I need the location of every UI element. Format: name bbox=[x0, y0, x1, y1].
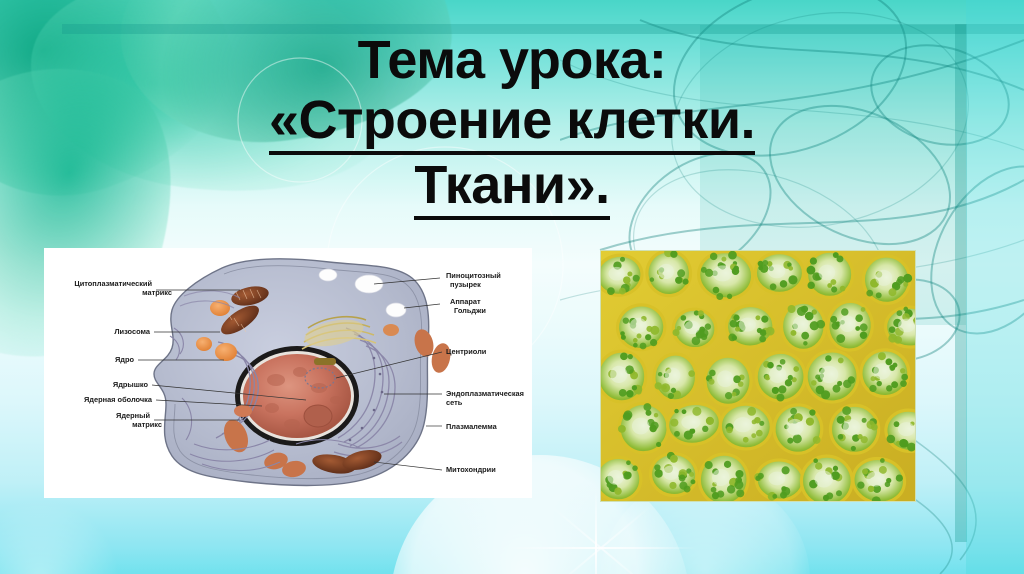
chloroplast bbox=[788, 275, 797, 284]
chloroplast bbox=[860, 331, 867, 338]
chloroplast bbox=[900, 368, 905, 373]
chloroplast bbox=[751, 433, 756, 438]
chloroplast bbox=[619, 389, 627, 397]
chloroplast bbox=[643, 403, 651, 411]
chloroplast bbox=[887, 435, 896, 444]
chloroplast bbox=[770, 283, 777, 290]
chloroplast bbox=[759, 336, 766, 343]
vacuole bbox=[898, 422, 915, 436]
chloroplast bbox=[837, 381, 842, 386]
cell-label-nuclear-envelope: Ядерная оболочка bbox=[84, 395, 153, 404]
chloroplast bbox=[766, 327, 775, 336]
svg-text:сеть: сеть bbox=[446, 398, 463, 407]
chloroplast bbox=[620, 257, 625, 262]
chloroplast bbox=[776, 394, 784, 402]
vacuole bbox=[734, 417, 752, 432]
chloroplast bbox=[620, 353, 628, 361]
chloroplast bbox=[816, 386, 825, 395]
chloroplast bbox=[811, 380, 817, 386]
chloroplast bbox=[688, 370, 695, 377]
chloroplast bbox=[831, 286, 837, 292]
chloroplast bbox=[614, 487, 621, 494]
chloroplast bbox=[654, 469, 662, 477]
chloroplast bbox=[778, 385, 786, 393]
chloroplast bbox=[903, 274, 912, 283]
cell-label-lysosome: Лизосома bbox=[114, 327, 151, 336]
chloroplast bbox=[841, 308, 849, 316]
chloroplast bbox=[915, 437, 916, 443]
chloroplast bbox=[780, 359, 786, 365]
chloroplast bbox=[624, 410, 633, 419]
chloroplast bbox=[727, 294, 732, 299]
plant-tissue-figure bbox=[600, 250, 916, 502]
chloroplast bbox=[838, 434, 844, 440]
chloroplast bbox=[733, 315, 739, 321]
chloroplast bbox=[806, 417, 814, 425]
chloroplast bbox=[651, 422, 659, 430]
vacuole bbox=[820, 366, 839, 383]
vacuole bbox=[712, 469, 730, 486]
chloroplast bbox=[838, 358, 844, 364]
chloroplast bbox=[860, 323, 868, 331]
chloroplast bbox=[626, 460, 631, 465]
chloroplast bbox=[790, 330, 796, 336]
chloroplast bbox=[726, 427, 733, 434]
chloroplast bbox=[709, 370, 716, 377]
chloroplast bbox=[843, 380, 852, 389]
chloroplast bbox=[669, 482, 676, 489]
vacuole bbox=[658, 264, 674, 279]
chloroplast bbox=[658, 372, 662, 376]
chloroplast bbox=[732, 392, 737, 397]
vacuole bbox=[875, 270, 892, 286]
chloroplast bbox=[842, 406, 851, 415]
vacuole bbox=[684, 321, 699, 334]
chloroplast bbox=[836, 490, 842, 496]
chloroplast bbox=[901, 374, 908, 381]
chloroplast bbox=[654, 413, 658, 417]
chloroplast bbox=[607, 287, 615, 295]
chloroplast bbox=[896, 279, 902, 285]
vacuole bbox=[608, 267, 624, 281]
chloroplast bbox=[825, 355, 831, 361]
chloroplast bbox=[880, 458, 885, 463]
vacuole bbox=[898, 319, 915, 333]
chloroplast bbox=[767, 362, 774, 369]
chloroplast bbox=[618, 425, 626, 433]
chloroplast bbox=[671, 388, 676, 393]
chloroplast bbox=[705, 323, 711, 329]
chloroplast bbox=[803, 341, 807, 345]
bubble-glow-icon bbox=[0, 500, 120, 574]
chloroplast bbox=[877, 381, 882, 386]
presentation-slide: Тема урока: «Строение клетки. Ткани». bbox=[0, 0, 1024, 574]
title-line-3: Ткани». bbox=[0, 155, 1024, 220]
chloroplast bbox=[876, 292, 882, 298]
sparkle-icon bbox=[595, 488, 597, 574]
chloroplast bbox=[677, 269, 685, 277]
chloroplast bbox=[801, 306, 808, 313]
svg-text:матрикс: матрикс bbox=[132, 420, 162, 429]
chloroplast bbox=[830, 316, 837, 323]
chloroplast bbox=[633, 338, 638, 343]
chloroplast bbox=[900, 380, 907, 387]
animal-cell-figure: Цитоплазматический матрикс Лизосома Ядро… bbox=[44, 248, 532, 498]
chloroplast bbox=[793, 434, 802, 443]
chloroplast bbox=[855, 326, 860, 331]
chloroplast bbox=[810, 257, 817, 264]
chloroplast bbox=[826, 492, 833, 499]
vacuole bbox=[632, 418, 650, 435]
vacuole bbox=[769, 366, 787, 383]
chloroplast bbox=[809, 409, 815, 415]
cell-label-nuclear-matrix: Ядерный bbox=[116, 411, 150, 420]
chloroplast bbox=[710, 253, 717, 260]
cell-label-nucleus: Ядро bbox=[115, 355, 135, 364]
chloroplast bbox=[813, 458, 818, 463]
chloroplast bbox=[780, 492, 787, 499]
vacuole bbox=[793, 316, 809, 332]
chloroplast bbox=[633, 275, 640, 282]
chloroplast bbox=[623, 317, 629, 323]
chloroplast bbox=[899, 439, 908, 448]
chloroplast bbox=[692, 407, 701, 416]
chloroplast bbox=[889, 288, 897, 296]
vacuole bbox=[739, 318, 756, 332]
chloroplast bbox=[885, 358, 892, 365]
chloroplast bbox=[915, 422, 916, 430]
chloroplast bbox=[830, 279, 836, 285]
chloroplast bbox=[681, 315, 687, 321]
vacuole bbox=[839, 315, 855, 332]
chloroplast bbox=[833, 466, 838, 471]
chloroplast bbox=[816, 320, 825, 329]
chloroplast bbox=[888, 334, 897, 343]
cell-label-mitochondria: Митохондрии bbox=[446, 465, 496, 474]
chloroplast bbox=[889, 326, 896, 333]
chloroplast bbox=[656, 442, 661, 447]
chloroplast bbox=[662, 385, 667, 390]
sparkle-icon bbox=[551, 505, 652, 574]
chloroplast bbox=[716, 293, 723, 300]
chloroplast bbox=[812, 310, 817, 315]
chloroplast bbox=[730, 320, 738, 328]
vacuole bbox=[717, 370, 734, 387]
chloroplast bbox=[668, 393, 674, 399]
chloroplast bbox=[755, 476, 760, 481]
chloroplast bbox=[705, 461, 713, 469]
chloroplast bbox=[675, 277, 682, 284]
chloroplast bbox=[815, 462, 822, 469]
chloroplast bbox=[858, 434, 863, 439]
chloroplast bbox=[754, 417, 761, 424]
chloroplast bbox=[640, 343, 647, 350]
title-text: Тема урока: bbox=[358, 30, 667, 90]
chloroplast bbox=[734, 480, 743, 489]
chloroplast bbox=[711, 487, 717, 493]
vacuole bbox=[630, 318, 647, 333]
chloroplast bbox=[813, 436, 821, 444]
chloroplast bbox=[727, 485, 735, 493]
chloroplast bbox=[897, 310, 903, 316]
chloroplast bbox=[650, 339, 657, 346]
chloroplast bbox=[674, 431, 680, 437]
cell-label-pinocytotic-vesicle: Пиноцитозный bbox=[446, 271, 501, 280]
chloroplast bbox=[679, 475, 686, 482]
vacuole bbox=[663, 466, 680, 480]
chloroplast bbox=[862, 468, 868, 474]
chloroplast bbox=[690, 479, 695, 484]
vacuole bbox=[866, 471, 885, 486]
chloroplast bbox=[627, 272, 632, 277]
chloroplast bbox=[721, 257, 726, 262]
chloroplast bbox=[698, 310, 704, 316]
cell-label-golgi-apparatus: Аппарат bbox=[450, 297, 481, 306]
chloroplast bbox=[632, 465, 638, 471]
chloroplast bbox=[655, 382, 662, 389]
svg-text:пузырек: пузырек bbox=[450, 280, 481, 289]
chloroplast bbox=[855, 314, 863, 322]
chloroplast bbox=[781, 486, 786, 491]
chloroplast bbox=[851, 446, 856, 451]
chloroplast bbox=[684, 486, 691, 493]
chloroplast bbox=[645, 334, 651, 340]
chloroplast bbox=[780, 280, 788, 288]
chloroplast bbox=[885, 482, 891, 488]
title-line-1: Тема урока: bbox=[0, 30, 1024, 90]
chloroplast bbox=[756, 430, 763, 437]
vacuole bbox=[607, 470, 623, 485]
cell-label-centrioles: Центриоли bbox=[446, 347, 487, 356]
chloroplast bbox=[903, 307, 908, 312]
chloroplast bbox=[692, 337, 701, 346]
chloroplast bbox=[896, 475, 903, 482]
cell-label-nucleolus: Ядрышко bbox=[113, 380, 149, 389]
chloroplast bbox=[732, 335, 737, 340]
chloroplast bbox=[836, 334, 845, 343]
chloroplast bbox=[755, 315, 760, 320]
chloroplast bbox=[866, 421, 874, 429]
chloroplast bbox=[650, 277, 655, 282]
chloroplast bbox=[670, 419, 678, 427]
chloroplast bbox=[636, 389, 642, 395]
chloroplast bbox=[878, 352, 886, 360]
vacuole bbox=[819, 265, 836, 281]
chloroplast bbox=[628, 354, 633, 359]
vacuole bbox=[815, 471, 833, 488]
chloroplast bbox=[782, 466, 790, 474]
chloroplast bbox=[787, 438, 793, 444]
chloroplast bbox=[793, 366, 799, 372]
chloroplast bbox=[725, 392, 732, 399]
chloroplast bbox=[712, 492, 719, 499]
chloroplast bbox=[728, 251, 737, 259]
chloroplast bbox=[871, 376, 876, 381]
chloroplast bbox=[807, 266, 816, 275]
chloroplast bbox=[861, 307, 866, 312]
chloroplast bbox=[706, 417, 714, 425]
svg-text:Гольджи: Гольджи bbox=[454, 306, 486, 315]
cell-label-plasmalemma: Плазмалемма bbox=[446, 422, 498, 431]
chloroplast bbox=[862, 418, 867, 423]
chloroplast bbox=[869, 385, 876, 392]
vacuole bbox=[681, 415, 700, 429]
vacuole bbox=[610, 366, 627, 383]
chloroplast bbox=[788, 266, 793, 271]
chloroplast bbox=[735, 327, 740, 332]
chloroplast bbox=[892, 363, 897, 368]
chloroplast bbox=[891, 381, 898, 388]
chloroplast bbox=[761, 316, 768, 323]
cell-label-endoplasmic-reticulum: Эндоплазматическая bbox=[446, 389, 524, 398]
title-text: «Строение клетки. bbox=[269, 90, 755, 155]
chloroplast bbox=[758, 261, 764, 267]
chloroplast bbox=[689, 472, 694, 477]
chloroplast bbox=[808, 282, 815, 289]
chloroplast bbox=[886, 385, 892, 391]
chloroplast bbox=[646, 410, 652, 416]
chloroplast bbox=[790, 408, 797, 415]
chloroplast bbox=[866, 290, 873, 297]
slide-title: Тема урока: «Строение клетки. Ткани». bbox=[0, 30, 1024, 220]
chloroplast bbox=[801, 332, 809, 340]
chloroplast bbox=[682, 409, 687, 414]
chloroplast bbox=[772, 494, 777, 499]
chloroplast bbox=[724, 461, 731, 468]
chloroplast bbox=[626, 390, 633, 397]
chloroplast bbox=[735, 470, 743, 478]
chloroplast bbox=[837, 416, 845, 424]
vacuole bbox=[843, 419, 860, 435]
chloroplast bbox=[868, 486, 874, 492]
chloroplast bbox=[619, 288, 626, 295]
chloroplast bbox=[674, 409, 678, 413]
chloroplast bbox=[620, 331, 625, 336]
chloroplast bbox=[785, 379, 792, 386]
chloroplast bbox=[682, 279, 688, 285]
chloroplast bbox=[637, 334, 642, 339]
sparkle-icon bbox=[506, 547, 696, 549]
vacuole bbox=[665, 368, 680, 384]
chloroplast bbox=[840, 286, 846, 292]
title-line-2: «Строение клетки. bbox=[0, 90, 1024, 155]
chloroplast bbox=[670, 455, 678, 463]
chloroplast bbox=[760, 329, 767, 336]
title-text: Ткани». bbox=[414, 155, 609, 220]
chloroplast bbox=[677, 326, 681, 330]
vacuole bbox=[713, 265, 732, 281]
sparkle-icon bbox=[551, 505, 652, 574]
chloroplast bbox=[857, 482, 864, 489]
chloroplast bbox=[701, 267, 707, 273]
chloroplast bbox=[709, 379, 715, 385]
chloroplast bbox=[650, 326, 659, 335]
vacuole bbox=[768, 264, 785, 278]
chloroplast bbox=[632, 385, 637, 390]
vacuole bbox=[873, 363, 890, 379]
chloroplast bbox=[702, 426, 708, 432]
chloroplast bbox=[736, 489, 744, 497]
chloroplast bbox=[833, 252, 839, 258]
chloroplast bbox=[732, 267, 740, 275]
svg-text:матрикс: матрикс bbox=[142, 288, 172, 297]
vacuole bbox=[786, 419, 803, 435]
chloroplast bbox=[743, 437, 749, 443]
cell-label-cytoplasmic-matrix: Цитоплазматический bbox=[74, 279, 152, 288]
chloroplast bbox=[788, 305, 796, 313]
chloroplast bbox=[713, 287, 720, 294]
chloroplast bbox=[627, 472, 632, 477]
chloroplast bbox=[772, 387, 779, 394]
chloroplast bbox=[747, 407, 756, 416]
chloroplast bbox=[633, 343, 638, 348]
chloroplast bbox=[762, 260, 768, 266]
chloroplast bbox=[894, 421, 900, 427]
vacuole bbox=[768, 472, 785, 486]
chloroplast bbox=[733, 375, 741, 383]
